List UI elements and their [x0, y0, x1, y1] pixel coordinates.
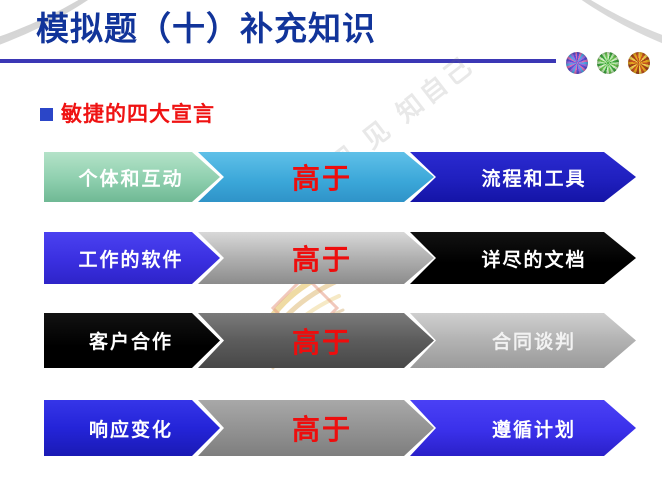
- manifesto-row: 个体和互动 高于 流程和工具: [44, 152, 636, 202]
- row-middle-label: 高于: [198, 408, 434, 448]
- row-left-label: 响应变化: [44, 415, 204, 442]
- spinner-ball-orange-icon: [628, 52, 650, 74]
- row-middle-chevron[interactable]: 高于: [198, 232, 434, 284]
- slide-canvas: 模拟题（十）补充知识 敏捷的四大宣言 清翔 见 知自己 个体和互动 高于 流程和…: [0, 0, 662, 496]
- page-title: 模拟题（十）补充知识: [36, 7, 376, 51]
- row-middle-label: 高于: [198, 157, 434, 197]
- section-heading: 敏捷的四大宣言: [40, 102, 215, 126]
- manifesto-row: 响应变化 高于 遵循计划: [44, 400, 636, 456]
- row-left-label: 工作的软件: [44, 245, 204, 272]
- square-bullet-icon: [40, 108, 53, 121]
- row-left-chevron[interactable]: 个体和互动: [44, 152, 220, 202]
- spinner-ball-purple-icon: [566, 52, 588, 74]
- row-left-chevron[interactable]: 工作的软件: [44, 232, 220, 284]
- manifesto-row: 工作的软件 高于 详尽的文档: [44, 232, 636, 284]
- row-right-label: 合同谈判: [410, 327, 636, 354]
- section-heading-label: 敏捷的四大宣言: [61, 102, 215, 126]
- row-left-label: 个体和互动: [44, 164, 204, 191]
- row-middle-label: 高于: [198, 238, 434, 278]
- row-left-label: 客户合作: [44, 327, 204, 354]
- manifesto-row: 客户合作 高于 合同谈判: [44, 313, 636, 368]
- row-right-chevron[interactable]: 详尽的文档: [410, 232, 636, 284]
- row-left-chevron[interactable]: 客户合作: [44, 313, 220, 368]
- row-right-label: 流程和工具: [410, 164, 636, 191]
- row-right-chevron[interactable]: 遵循计划: [410, 400, 636, 456]
- title-divider: [0, 59, 556, 63]
- row-middle-chevron[interactable]: 高于: [198, 313, 434, 368]
- row-right-label: 遵循计划: [410, 415, 636, 442]
- row-left-chevron[interactable]: 响应变化: [44, 400, 220, 456]
- decorative-balls-group: [566, 52, 650, 74]
- row-middle-chevron[interactable]: 高于: [198, 400, 434, 456]
- spinner-ball-green-icon: [597, 52, 619, 74]
- row-middle-label: 高于: [198, 321, 434, 361]
- row-right-chevron[interactable]: 流程和工具: [410, 152, 636, 202]
- row-right-chevron[interactable]: 合同谈判: [410, 313, 636, 368]
- row-right-label: 详尽的文档: [410, 245, 636, 272]
- row-middle-chevron[interactable]: 高于: [198, 152, 434, 202]
